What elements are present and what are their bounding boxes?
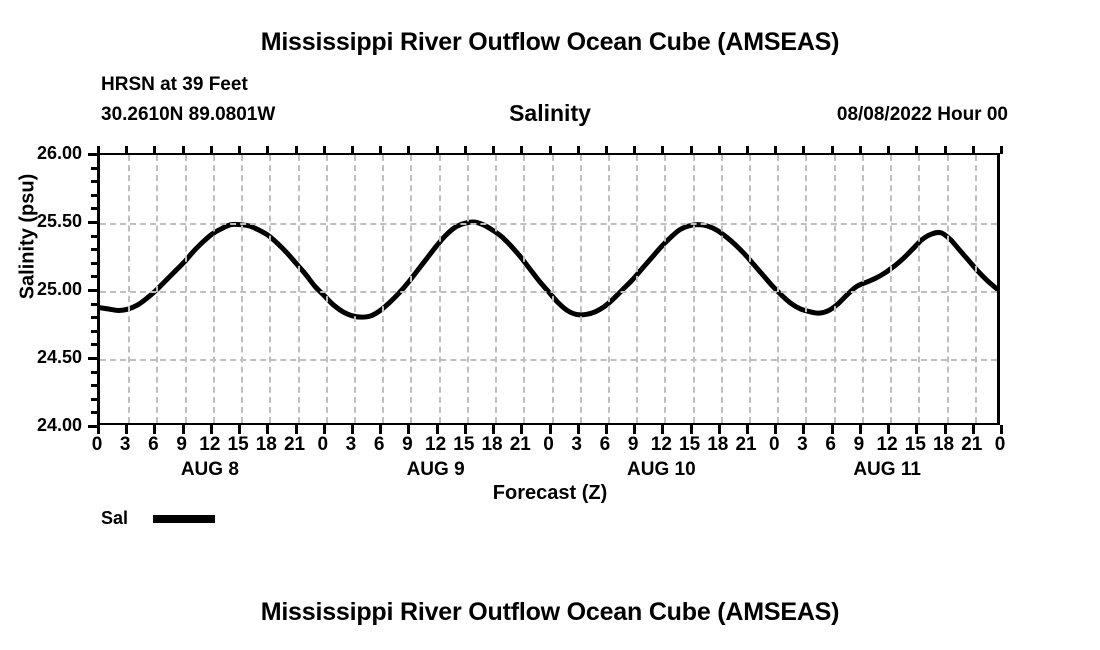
legend-label: Sal: [101, 508, 153, 529]
x-axis-tick: [464, 425, 467, 434]
gridline-vertical: [862, 155, 864, 423]
gridline-vertical: [890, 155, 892, 423]
x-axis-tick: [549, 425, 552, 434]
gridline-horizontal: [100, 223, 997, 225]
x-axis-tick: [972, 425, 975, 434]
x-axis-tick: [690, 425, 693, 434]
x-axis-tick: [153, 425, 156, 434]
y-axis-tick-label: 25.00: [0, 279, 82, 300]
gridline-vertical: [523, 155, 525, 423]
y-axis-tick-label: 26.00: [0, 143, 82, 164]
gridline-vertical: [241, 155, 243, 423]
x-axis-tick: [915, 425, 918, 434]
x-axis-day-label: AUG 9: [356, 459, 516, 481]
y-axis-tick-label: 24.50: [0, 347, 82, 368]
gridline-vertical: [834, 155, 836, 423]
gridline-horizontal: [100, 359, 997, 361]
gridline-vertical: [467, 155, 469, 423]
x-axis-tick: [831, 425, 834, 434]
gridline-vertical: [975, 155, 977, 423]
legend-line-swatch: [153, 515, 215, 523]
gridline-vertical: [495, 155, 497, 423]
x-axis-tick: [633, 425, 636, 434]
x-axis-tick: [746, 425, 749, 434]
x-axis-tick: [125, 425, 128, 434]
gridline-vertical: [918, 155, 920, 423]
gridline-vertical: [326, 155, 328, 423]
gridline-vertical: [721, 155, 723, 423]
x-axis-tick: [407, 425, 410, 434]
legend: Sal: [101, 508, 215, 529]
gridline-vertical: [410, 155, 412, 423]
x-axis-tick: [520, 425, 523, 434]
page-title: Mississippi River Outflow Ocean Cube (AM…: [0, 28, 1100, 57]
gridline-vertical: [156, 155, 158, 423]
gridline-vertical: [354, 155, 356, 423]
gridline-vertical: [777, 155, 779, 423]
x-axis-day-label: AUG 8: [130, 459, 290, 481]
x-axis-tick: [802, 425, 805, 434]
x-axis-tick: [944, 425, 947, 434]
gridline-vertical: [269, 155, 271, 423]
gridline-vertical: [636, 155, 638, 423]
gridline-vertical: [580, 155, 582, 423]
x-axis-tick: [351, 425, 354, 434]
station-depth-label: HRSN at 39 Feet: [101, 74, 248, 96]
gridline-vertical: [552, 155, 554, 423]
x-axis-tick: [323, 425, 326, 434]
forecast-datetime-label: 08/08/2022 Hour 00: [837, 104, 1008, 126]
x-axis-label: Forecast (Z): [0, 482, 1100, 505]
x-axis-tick: [577, 425, 580, 434]
x-axis-tick-top: [1000, 146, 1003, 154]
x-axis-tick: [1000, 425, 1003, 434]
gridline-vertical: [805, 155, 807, 423]
x-axis-tick: [661, 425, 664, 434]
gridline-vertical: [608, 155, 610, 423]
chart-page: Mississippi River Outflow Ocean Cube (AM…: [0, 0, 1100, 650]
x-axis-tick: [859, 425, 862, 434]
plot-area: [97, 153, 1000, 425]
gridline-horizontal: [100, 291, 997, 293]
x-axis-tick: [295, 425, 298, 434]
gridline-vertical: [693, 155, 695, 423]
gridline-vertical: [664, 155, 666, 423]
x-axis-tick: [774, 425, 777, 434]
y-axis-tick-label: 25.50: [0, 211, 82, 232]
x-axis-tick: [210, 425, 213, 434]
gridline-vertical: [947, 155, 949, 423]
footer-title: Mississippi River Outflow Ocean Cube (AM…: [0, 598, 1100, 627]
gridline-vertical: [213, 155, 215, 423]
x-axis-day-label: AUG 10: [581, 459, 741, 481]
gridline-vertical: [439, 155, 441, 423]
x-axis-tick: [605, 425, 608, 434]
x-axis-tick: [492, 425, 495, 434]
y-axis-label: Salinity (psu): [17, 137, 40, 337]
gridline-vertical: [298, 155, 300, 423]
gridline-vertical: [382, 155, 384, 423]
x-axis-day-label: AUG 11: [807, 459, 967, 481]
gridline-vertical: [185, 155, 187, 423]
gridline-vertical: [128, 155, 130, 423]
x-axis-tick: [182, 425, 185, 434]
x-axis-tick: [238, 425, 241, 434]
x-axis-tick: [266, 425, 269, 434]
x-axis-tick: [436, 425, 439, 434]
x-axis-tick: [379, 425, 382, 434]
x-axis-tick: [718, 425, 721, 434]
x-axis-tick: [887, 425, 890, 434]
gridline-vertical: [749, 155, 751, 423]
x-axis-tick: [97, 425, 100, 434]
x-axis-tick-label: 0: [980, 434, 1020, 456]
y-axis-tick-label: 24.00: [0, 415, 82, 436]
plot-inner: [100, 155, 997, 423]
